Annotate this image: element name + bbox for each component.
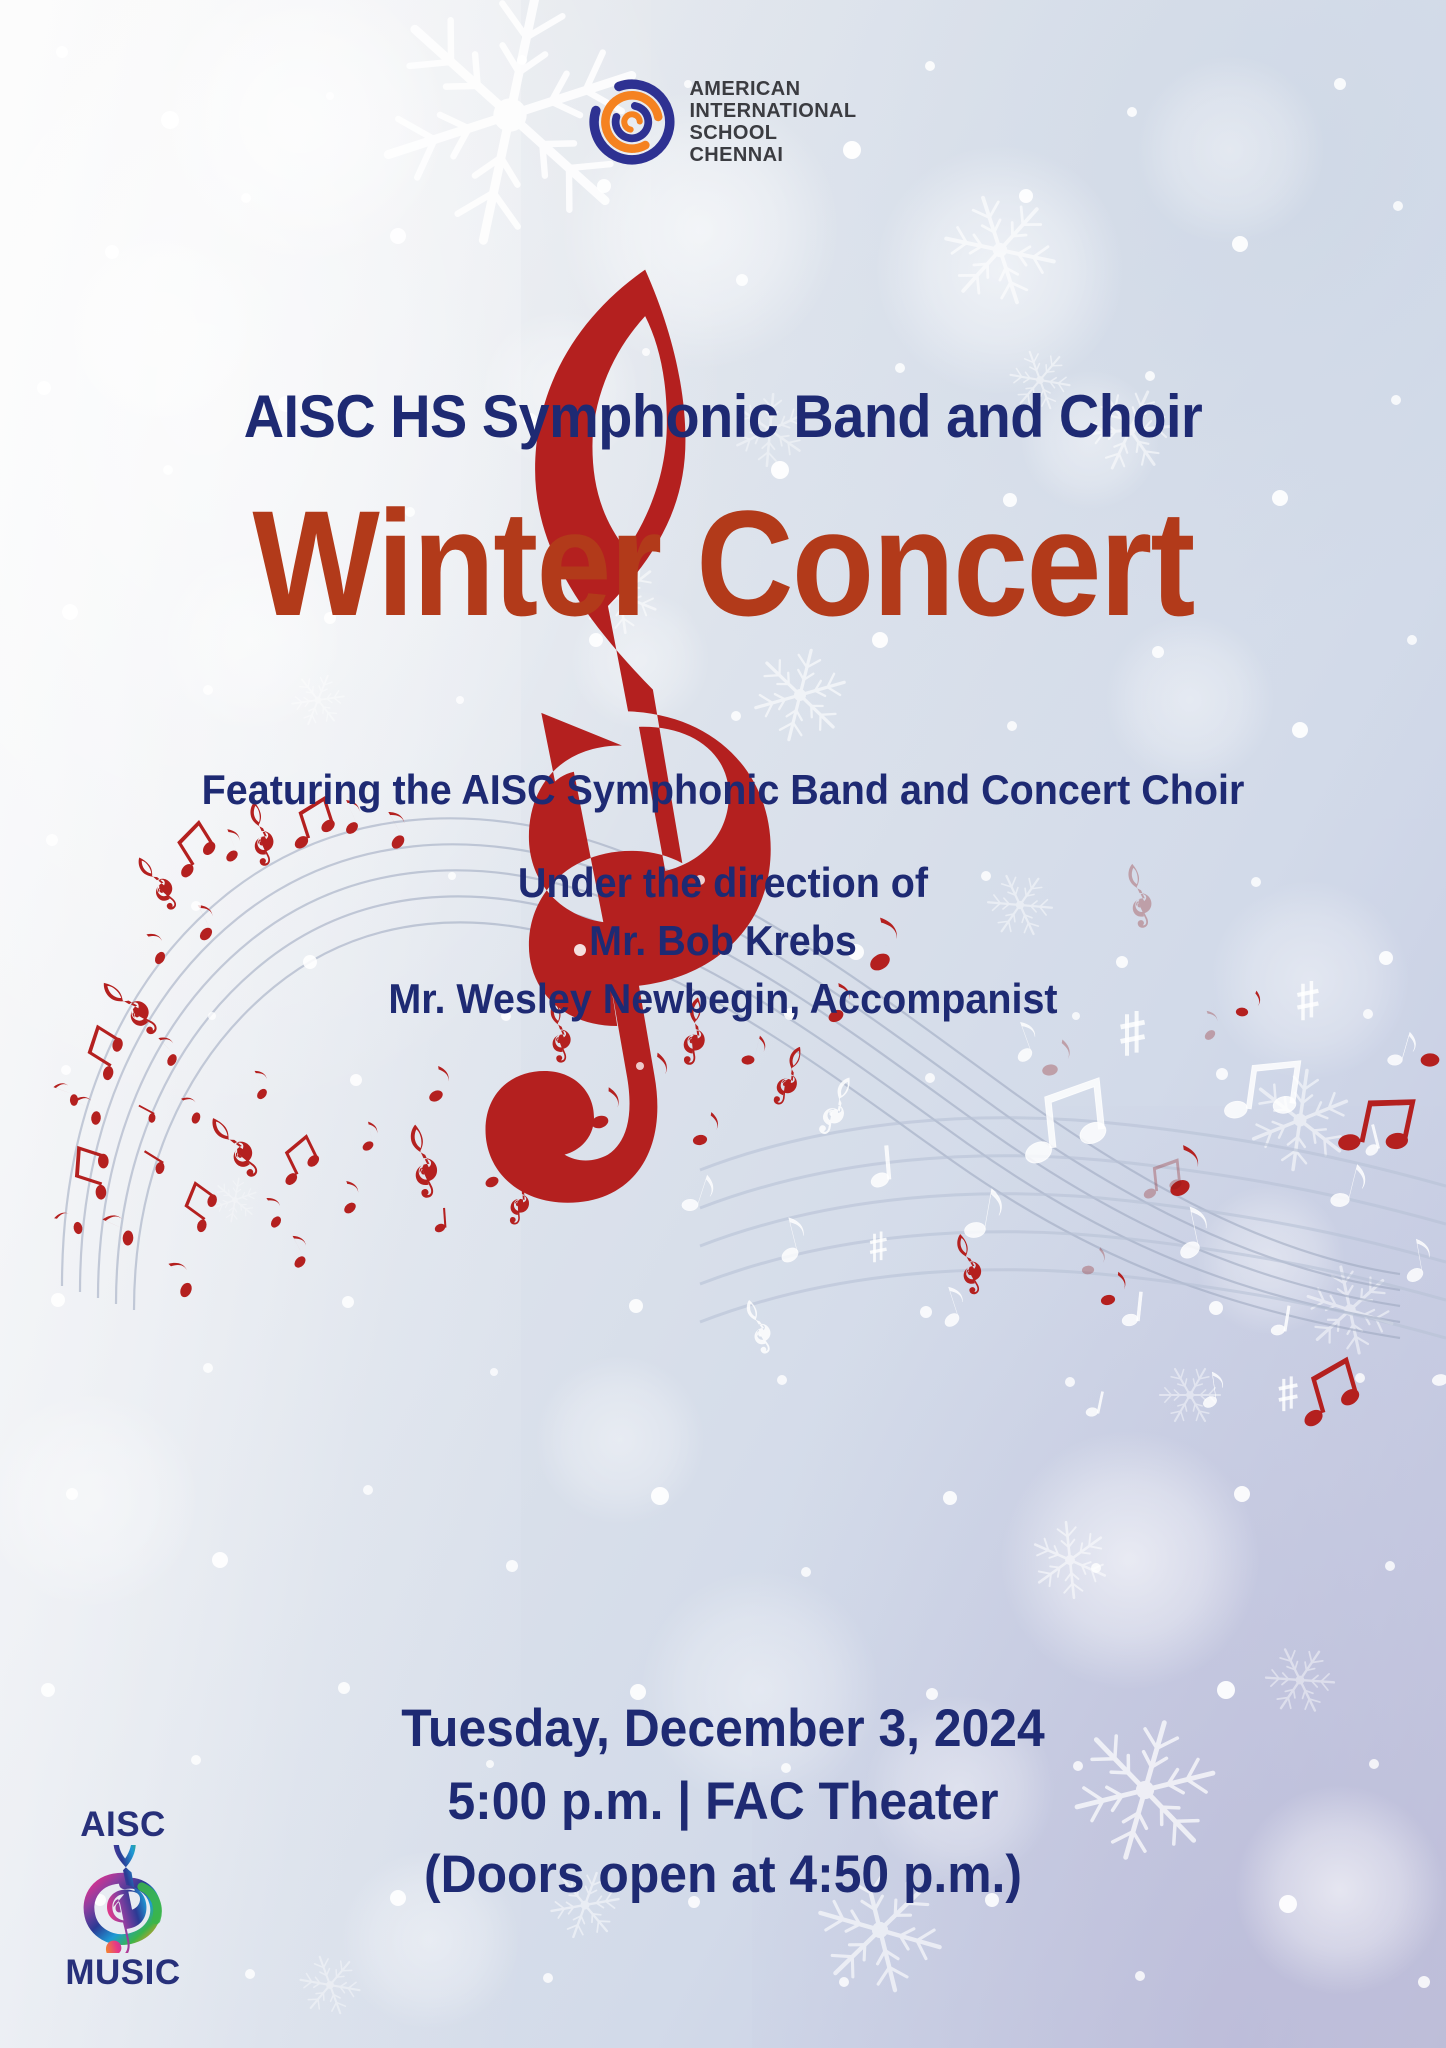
winter-concert-poster: AMERICAN INTERNATIONAL SCHOOL CHENNAI AI… [0,0,1446,2048]
music-logo-bottom-word: MUSIC [48,1954,198,1992]
school-logo-text: AMERICAN INTERNATIONAL SCHOOL CHENNAI [689,78,856,166]
featuring-line: Featuring the AISC Symphonic Band and Co… [43,766,1402,814]
direction-line-1: Under the direction of [43,854,1402,912]
school-logo-line-4: CHENNAI [689,144,856,166]
spiral-circle-icon [589,79,675,165]
event-doors-open: (Doors open at 4:50 p.m.) [43,1838,1402,1911]
page-headline: AISC HS Symphonic Band and Choir [51,382,1396,451]
treble-clef-icon [77,1845,169,1953]
school-logo-line-2: INTERNATIONAL [689,100,856,122]
direction-block: Under the direction of Mr. Bob Krebs Mr.… [43,854,1402,1028]
aisc-music-logo: AISC [48,1806,198,1992]
music-logo-clef [48,1844,198,1954]
direction-line-2: Mr. Bob Krebs [43,912,1402,970]
school-logo-line-1: AMERICAN [689,78,856,100]
event-date: Tuesday, December 3, 2024 [43,1692,1402,1765]
direction-line-3: Mr. Wesley Newbegin, Accompanist [43,970,1402,1028]
event-details-block: Tuesday, December 3, 2024 5:00 p.m. | FA… [43,1692,1402,1911]
school-logo-line-3: SCHOOL [689,122,856,144]
aisc-school-logo: AMERICAN INTERNATIONAL SCHOOL CHENNAI [0,78,1446,166]
event-time-venue: 5:00 p.m. | FAC Theater [43,1765,1402,1838]
music-logo-top-word: AISC [48,1806,198,1844]
page-title: Winter Concert [72,486,1373,641]
